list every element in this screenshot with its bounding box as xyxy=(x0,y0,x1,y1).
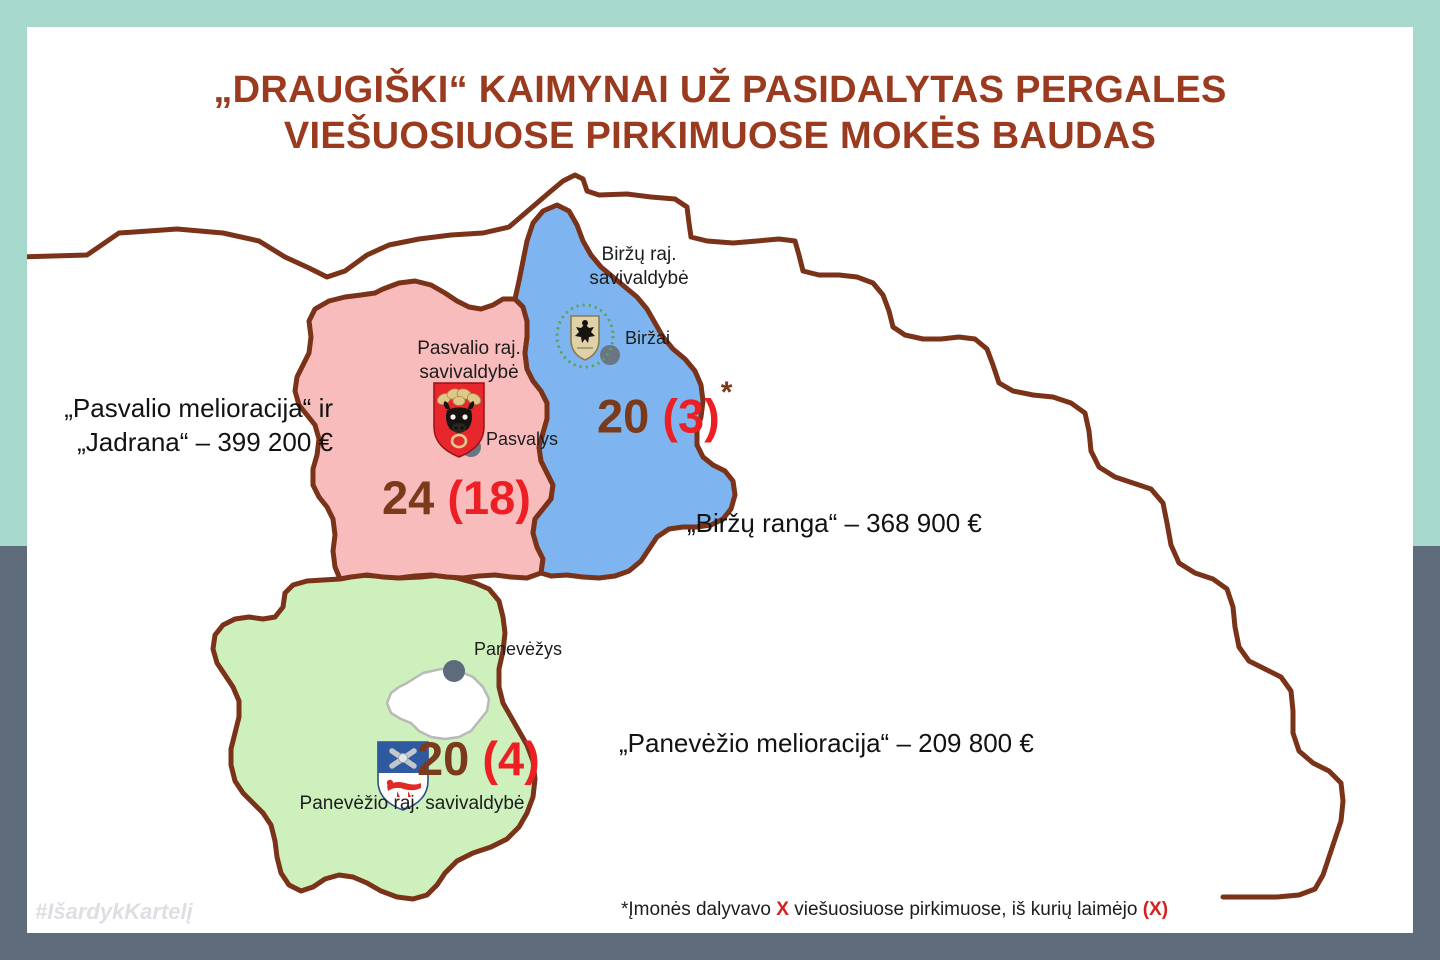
footnote-x-participated: X xyxy=(776,899,789,920)
stat-panevezys-total: 20 xyxy=(417,732,469,785)
footnote: *Įmonės dalyvavo X viešuosiuose pirkimuo… xyxy=(621,899,1311,921)
city-label-pasvalys: Pasvalys xyxy=(486,429,558,450)
region-label-pasvalys: Pasvalio raj. savivaldybė xyxy=(379,337,559,385)
watermark-hashtag: #IšardykKartelį xyxy=(35,899,193,925)
note-pasvalio-melioracija: „Pasvalio melioracija“ ir „Jadrana“ – 39… xyxy=(27,392,333,460)
stat-pasvalys-won: (18) xyxy=(447,471,531,524)
lithuania-region-map xyxy=(27,27,1413,933)
footnote-middle: viešuosiuose pirkimuose, iš kurių laimėj… xyxy=(789,899,1143,920)
stat-panevezys: 20 (4) xyxy=(417,735,540,782)
stat-panevezys-won: (4) xyxy=(482,732,539,785)
note-panevezio-melioracija: „Panevėžio melioracija“ – 209 800 € xyxy=(619,727,1034,761)
stat-birzai-won: (3) xyxy=(662,390,719,443)
stat-birzai-total: 20 xyxy=(597,390,649,443)
infographic-canvas: „DRAUGIŠKI“ KAIMYNAI UŽ PASIDALYTAS PERG… xyxy=(27,27,1413,933)
footnote-prefix: *Įmonės dalyvavo xyxy=(621,899,776,920)
stat-pasvalys: 24 (18) xyxy=(382,474,531,521)
stat-pasvalys-total: 24 xyxy=(382,471,434,524)
city-dot-panevezys xyxy=(443,660,465,682)
asterisk-marker: * xyxy=(721,376,733,409)
city-label-panevezys: Panevėžys xyxy=(474,639,562,660)
region-label-birzai: Biržų raj. savivaldybė xyxy=(539,243,739,291)
pasvalys-coat-of-arms xyxy=(430,379,488,461)
note-birzu-ranga: „Biržų ranga“ – 368 900 € xyxy=(687,507,982,541)
city-label-birzai: Biržai xyxy=(625,328,670,349)
stat-birzai: 20 (3)* xyxy=(597,392,731,440)
region-label-panevezys: Panevėžio raj. savivaldybė xyxy=(282,792,542,816)
footnote-x-won: (X) xyxy=(1143,899,1168,920)
birzai-coat-of-arms xyxy=(554,302,616,370)
